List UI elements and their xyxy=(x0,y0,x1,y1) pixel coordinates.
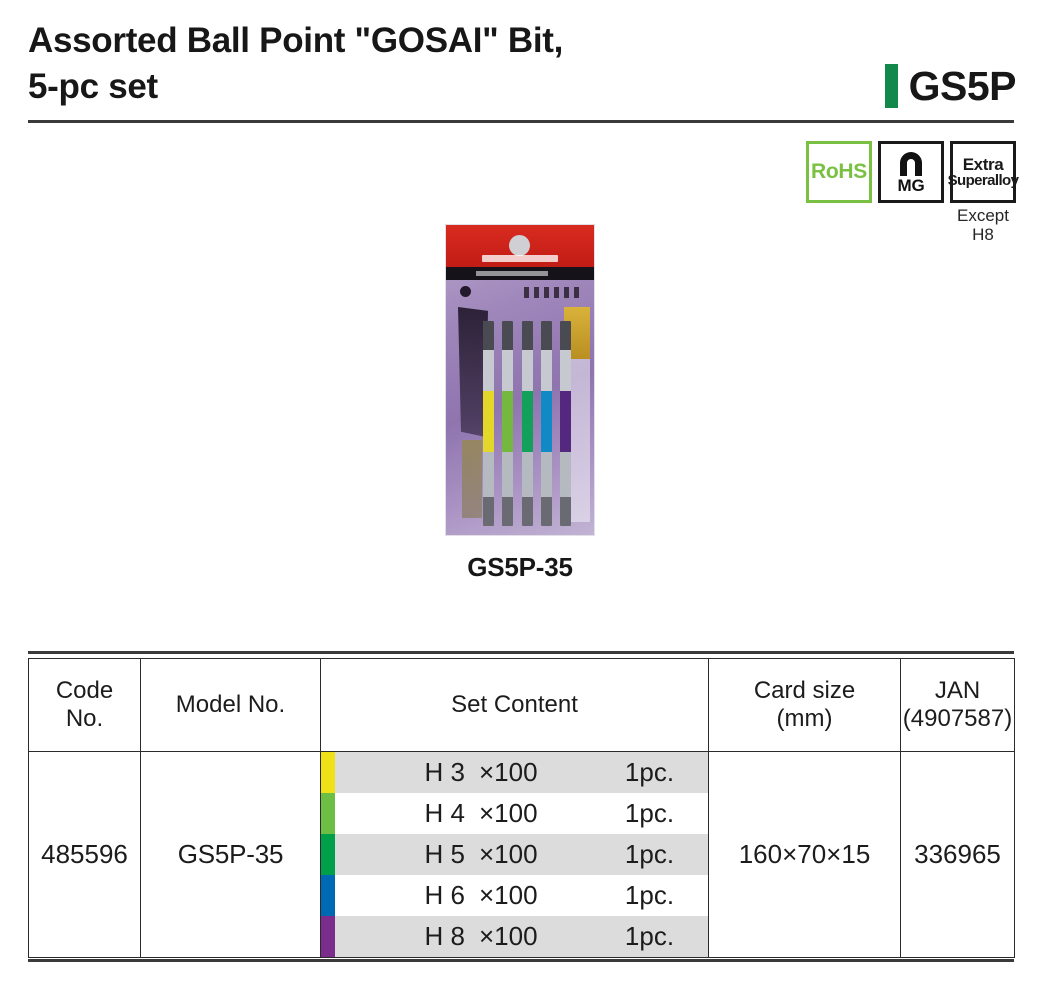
column-header-jan: JAN (4907587) xyxy=(901,659,1015,752)
superalloy-label-line1: Extra xyxy=(963,156,1004,173)
pack-brand-text xyxy=(482,255,558,262)
magnet-label: MG xyxy=(898,177,925,194)
set-content-text: H 3×1001pc. xyxy=(335,757,708,788)
set-content-text: H 5×1001pc. xyxy=(335,839,708,870)
table-body: 485596 GS5P-35 H 3×1001pc.H 4×1001pc.H 5… xyxy=(29,752,1015,958)
set-content-text: H 8×1001pc. xyxy=(335,921,708,952)
cell-set-content: H 3×1001pc.H 4×1001pc.H 5×1001pc.H 6×100… xyxy=(321,752,709,958)
product-photo-caption: GS5P-35 xyxy=(467,552,573,583)
bit-h3 xyxy=(483,321,494,526)
pack-size-list xyxy=(524,287,582,298)
extra-superalloy-icon: Extra Superalloy xyxy=(950,141,1016,203)
set-content-row: H 6×1001pc. xyxy=(321,875,708,916)
page-title: Assorted Ball Point "GOSAI" Bit, 5-pc se… xyxy=(28,18,828,109)
set-content-row: H 4×1001pc. xyxy=(321,793,708,834)
bit-size: H 8 xyxy=(335,921,465,952)
bit-quantity: 1pc. xyxy=(597,839,708,870)
superalloy-label-line2: Superalloy xyxy=(948,173,1019,188)
bit-length: ×100 xyxy=(465,921,597,952)
set-content-row: H 3×1001pc. xyxy=(321,752,708,793)
color-swatch xyxy=(321,752,335,793)
badge-magnet-group: MG xyxy=(878,141,944,203)
rohs-icon: RoHS xyxy=(806,141,872,203)
pack-dot-mark xyxy=(460,286,471,297)
series-code-group: GS5P xyxy=(885,64,1016,108)
color-swatch xyxy=(321,793,335,834)
table-header-row: Code No. Model No. Set Content Card size… xyxy=(29,659,1015,752)
table-row: 485596 GS5P-35 H 3×1001pc.H 4×1001pc.H 5… xyxy=(29,752,1015,958)
cell-card-size: 160×70×15 xyxy=(709,752,901,958)
bit-quantity: 1pc. xyxy=(597,798,708,829)
set-content-text: H 4×1001pc. xyxy=(335,798,708,829)
bit-size: H 4 xyxy=(335,798,465,829)
color-swatch xyxy=(321,834,335,875)
color-swatch xyxy=(321,916,335,957)
bit-h8 xyxy=(560,321,571,526)
product-photo xyxy=(446,225,594,535)
bit-row xyxy=(483,321,571,526)
bit-quantity: 1pc. xyxy=(597,880,708,911)
set-content-row: H 5×1001pc. xyxy=(321,834,708,875)
series-code: GS5P xyxy=(909,66,1016,107)
horseshoe-magnet-icon xyxy=(896,150,926,176)
badge-rohs-group: RoHS xyxy=(806,141,872,203)
pack-japanese-text-lower xyxy=(462,440,482,518)
bit-length: ×100 xyxy=(465,798,597,829)
pack-hang-hole xyxy=(509,235,530,256)
page-header: Assorted Ball Point "GOSAI" Bit, 5-pc se… xyxy=(0,0,1040,130)
bit-quantity: 1pc. xyxy=(597,921,708,952)
bit-length: ×100 xyxy=(465,880,597,911)
set-content-row: H 8×1001pc. xyxy=(321,916,708,957)
column-header-card-size: Card size (mm) xyxy=(709,659,901,752)
column-header-code-no: Code No. xyxy=(29,659,141,752)
bit-length: ×100 xyxy=(465,757,597,788)
set-content-list: H 3×1001pc.H 4×1001pc.H 5×1001pc.H 6×100… xyxy=(321,752,708,957)
set-content-text: H 6×1001pc. xyxy=(335,880,708,911)
magnet-icon: MG xyxy=(878,141,944,203)
cell-jan: 336965 xyxy=(901,752,1015,958)
bit-size: H 6 xyxy=(335,880,465,911)
table-bottom-rule xyxy=(28,959,1014,962)
title-divider xyxy=(28,120,1014,123)
column-header-model-no: Model No. xyxy=(141,659,321,752)
column-header-set-content: Set Content xyxy=(321,659,709,752)
bit-h4 xyxy=(502,321,513,526)
bit-size: H 3 xyxy=(335,757,465,788)
table-header: Code No. Model No. Set Content Card size… xyxy=(29,659,1015,752)
cell-code-no: 485596 xyxy=(29,752,141,958)
magnet-glyph: MG xyxy=(896,150,926,194)
pack-black-band xyxy=(446,267,594,280)
specification-table: Code No. Model No. Set Content Card size… xyxy=(28,658,1015,958)
table-top-rule xyxy=(28,651,1014,654)
color-swatch xyxy=(321,875,335,916)
bit-length: ×100 xyxy=(465,839,597,870)
cell-model-no: GS5P-35 xyxy=(141,752,321,958)
bit-h5 xyxy=(522,321,533,526)
rohs-label: RoHS xyxy=(811,160,867,184)
bit-size: H 5 xyxy=(335,839,465,870)
series-color-bar xyxy=(885,64,898,108)
product-figure: GS5P-35 xyxy=(0,225,1040,583)
bit-quantity: 1pc. xyxy=(597,757,708,788)
bit-h6 xyxy=(541,321,552,526)
